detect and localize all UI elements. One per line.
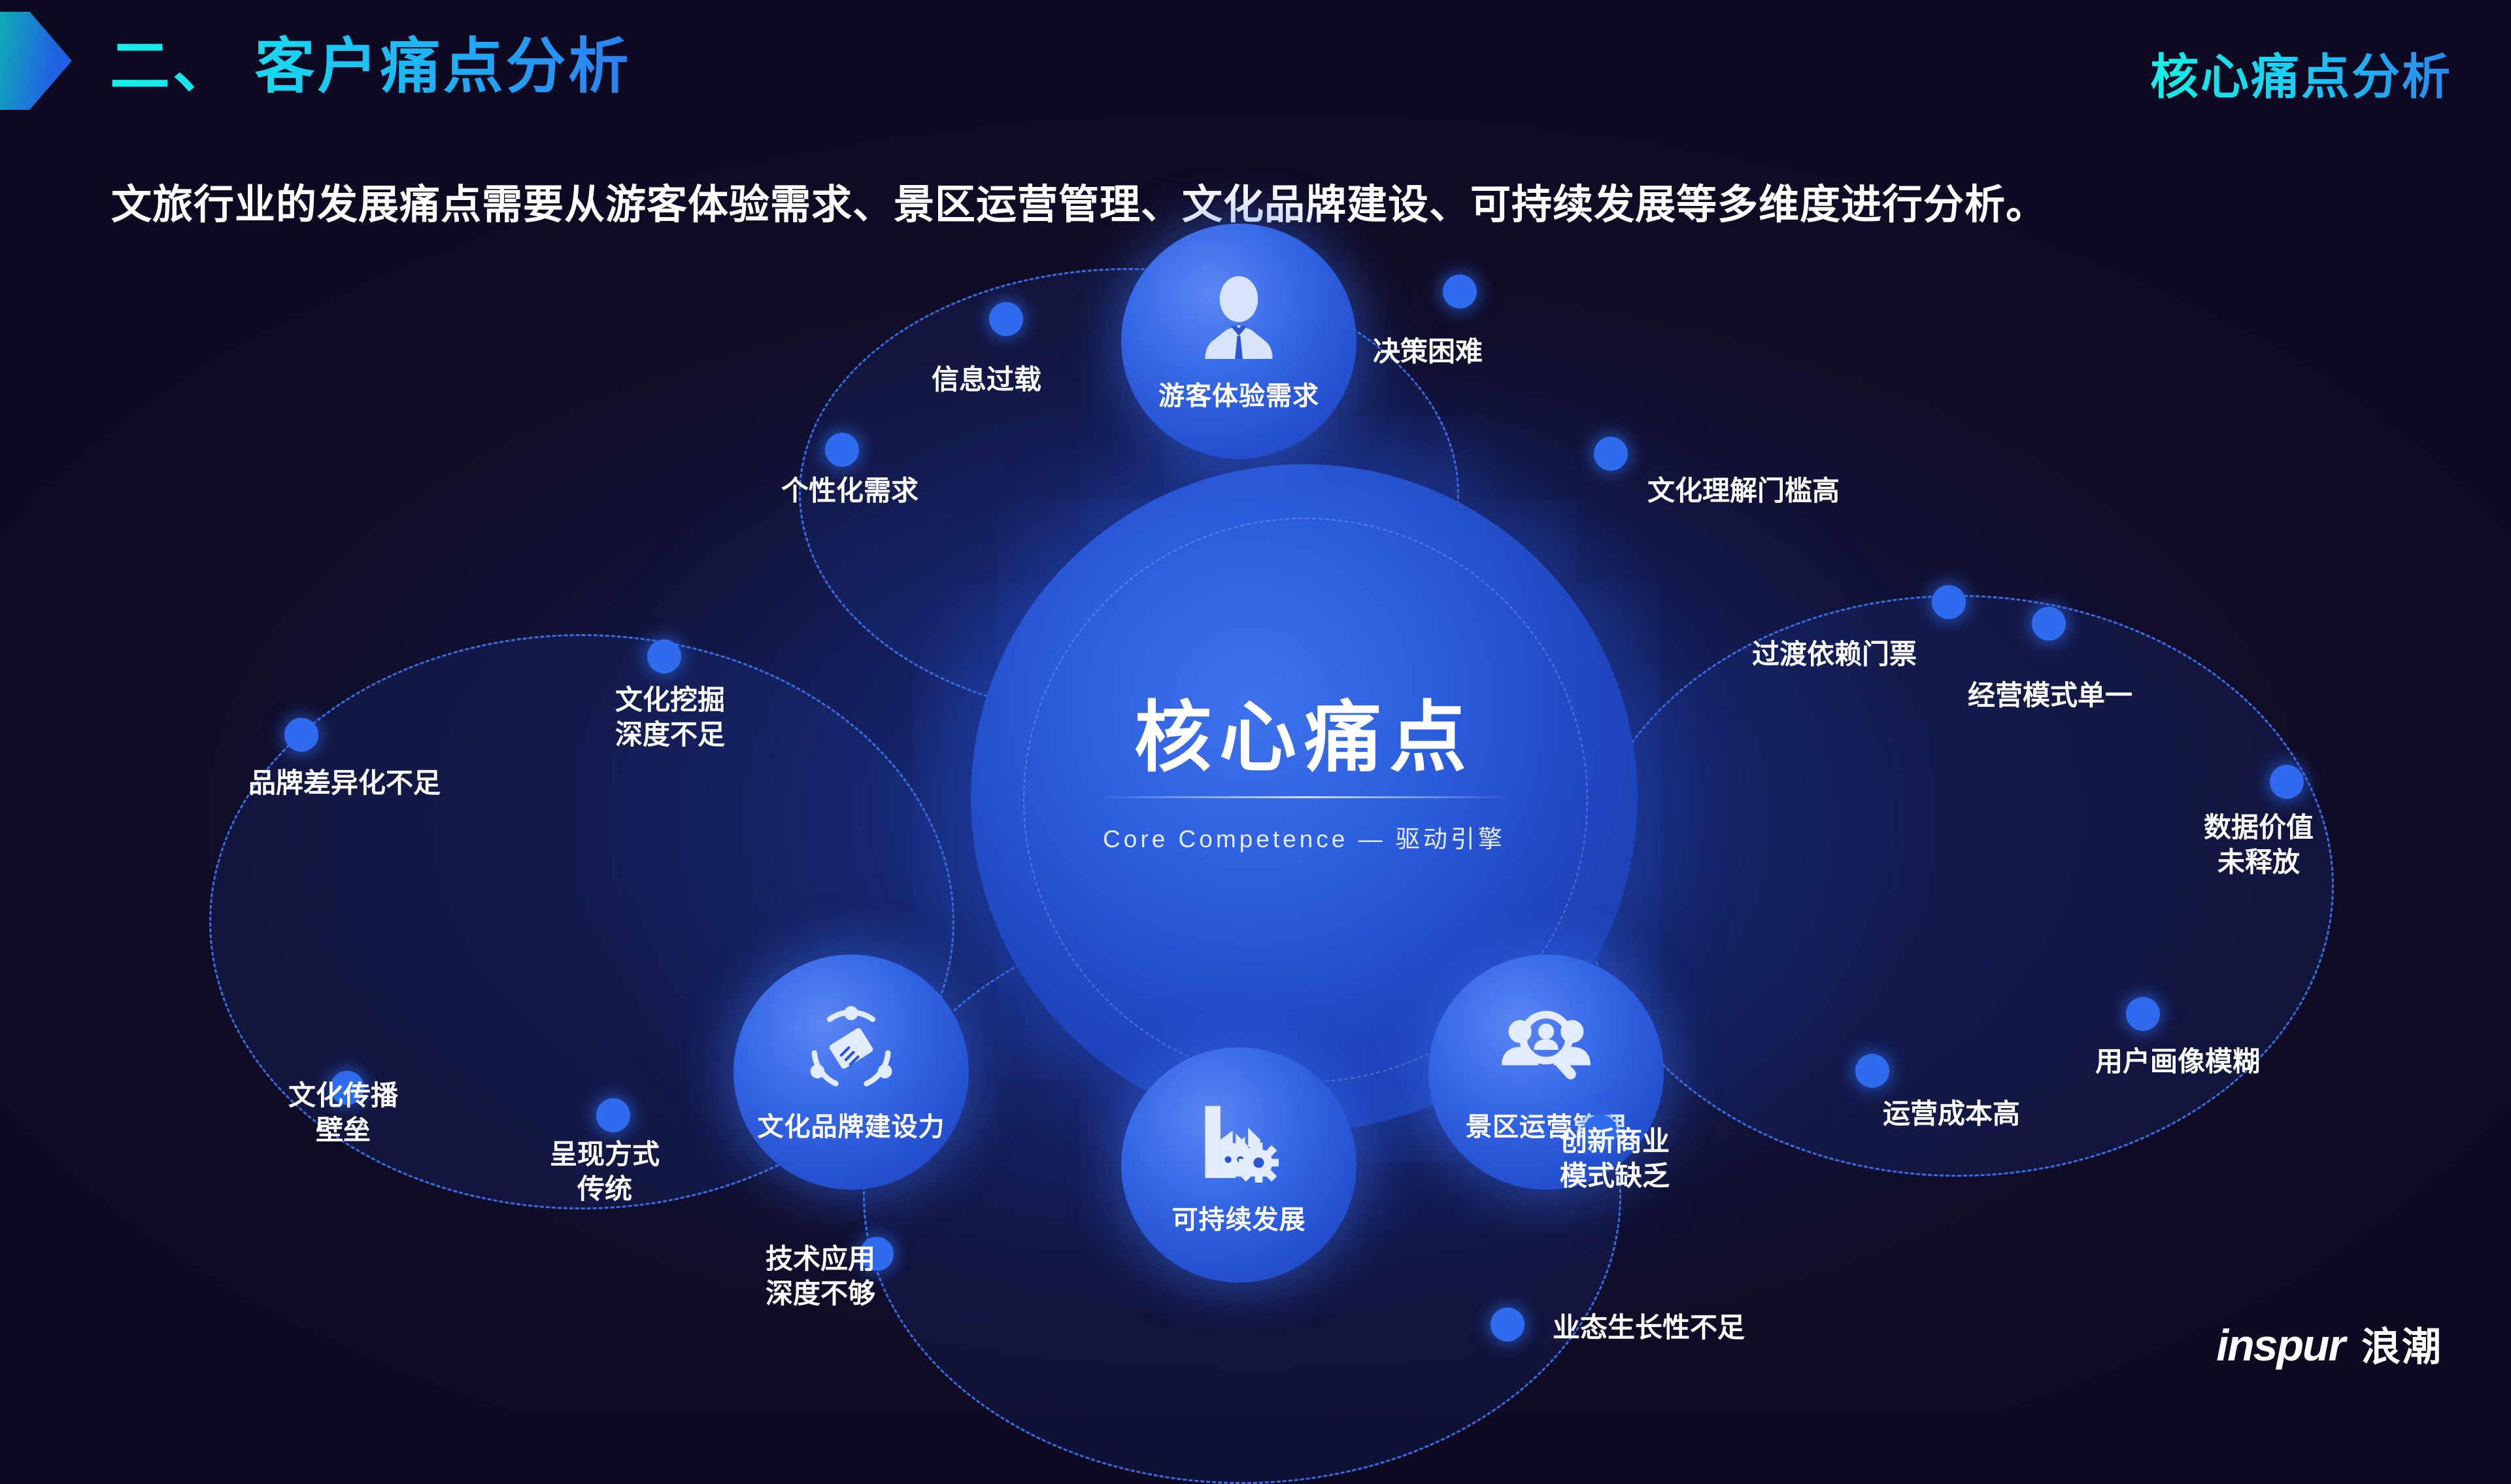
dot-cultural-excavation[interactable] — [647, 639, 681, 673]
node-sustainable-development[interactable]: 可持续发展 — [1121, 1047, 1357, 1283]
logo-text-cn: 浪潮 — [2361, 1315, 2442, 1372]
handshake-network-icon — [802, 1001, 900, 1099]
label-culture-threshold: 文化理解门槛高 — [1647, 474, 1840, 509]
node-label: 游客体验需求 — [1158, 375, 1319, 413]
label-decision-difficulty: 决策困难 — [1373, 335, 1483, 369]
dot-brand-differentiation[interactable] — [284, 718, 318, 752]
core-text-block: 核心痛点 Core Competence — 驱动引擎 — [1020, 700, 1589, 854]
dot-data-value[interactable] — [2270, 765, 2304, 799]
label-data-value: 数据价值 未释放 — [2170, 811, 2347, 879]
node-tourist-experience[interactable]: 游客体验需求 — [1121, 224, 1357, 459]
label-brand-differentiation: 品牌差异化不足 — [248, 766, 441, 801]
dot-single-business-model[interactable] — [2032, 607, 2066, 641]
label-single-business-model: 经营模式单一 — [1968, 679, 2132, 713]
page-subtitle: 文旅行业的发展痛点需要从游客体验需求、景区运营管理、文化品牌建设、可持续发展等多… — [111, 171, 2047, 230]
label-ticket-dependency: 过渡依赖门票 — [1752, 637, 1917, 672]
core-title: 核心痛点 — [1020, 700, 1589, 777]
label-presentation-traditional: 呈现方式 传统 — [523, 1138, 686, 1206]
section-tag: 核心痛点分析 — [2150, 38, 2452, 108]
page-title: 二、 客户痛点分析 — [110, 33, 632, 102]
label-info-overload: 信息过载 — [932, 363, 1041, 397]
core-subtitle: Core Competence — 驱动引擎 — [1020, 819, 1589, 854]
dot-culture-threshold[interactable] — [1594, 437, 1628, 471]
dot-personalized-demand[interactable] — [825, 433, 859, 467]
logo-text-en: inspur — [2216, 1320, 2344, 1371]
dot-operating-cost[interactable] — [1855, 1054, 1889, 1088]
brand-logo: inspur 浪潮 — [2216, 1315, 2442, 1372]
dot-info-overload[interactable] — [989, 302, 1023, 336]
label-tech-application: 技术应用 深度不够 — [729, 1242, 912, 1311]
node-label: 可持续发展 — [1172, 1198, 1306, 1236]
label-innovation-business: 创新商业 模式缺乏 — [1526, 1124, 1703, 1193]
label-cultural-excavation: 文化挖掘 深度不足 — [582, 683, 758, 752]
node-label: 文化品牌建设力 — [758, 1105, 945, 1143]
label-cultural-barrier: 文化传播 壁垒 — [261, 1079, 425, 1147]
label-personalized-demand: 个性化需求 — [781, 474, 918, 509]
dot-decision-difficulty[interactable] — [1443, 275, 1477, 309]
dot-business-growth[interactable] — [1491, 1307, 1525, 1341]
orbit-scenic — [1582, 595, 2334, 1177]
factory-gear-icon — [1190, 1094, 1288, 1192]
pain-point-diagram: 核心痛点 Core Competence — 驱动引擎 游客体验需求 信息过载 … — [0, 248, 2511, 1353]
core-divider — [1095, 796, 1513, 798]
dot-ticket-dependency[interactable] — [1932, 585, 1966, 619]
dot-user-profile[interactable] — [2126, 997, 2160, 1031]
user-tie-icon — [1190, 270, 1288, 368]
label-user-profile: 用户画像模糊 — [2095, 1045, 2260, 1079]
dot-presentation-traditional[interactable] — [596, 1098, 630, 1132]
node-cultural-brand[interactable]: 文化品牌建设力 — [733, 954, 969, 1190]
label-operating-cost: 运营成本高 — [1883, 1097, 2020, 1132]
people-search-icon — [1497, 1001, 1595, 1099]
label-business-growth: 业态生长性不足 — [1553, 1311, 1745, 1345]
